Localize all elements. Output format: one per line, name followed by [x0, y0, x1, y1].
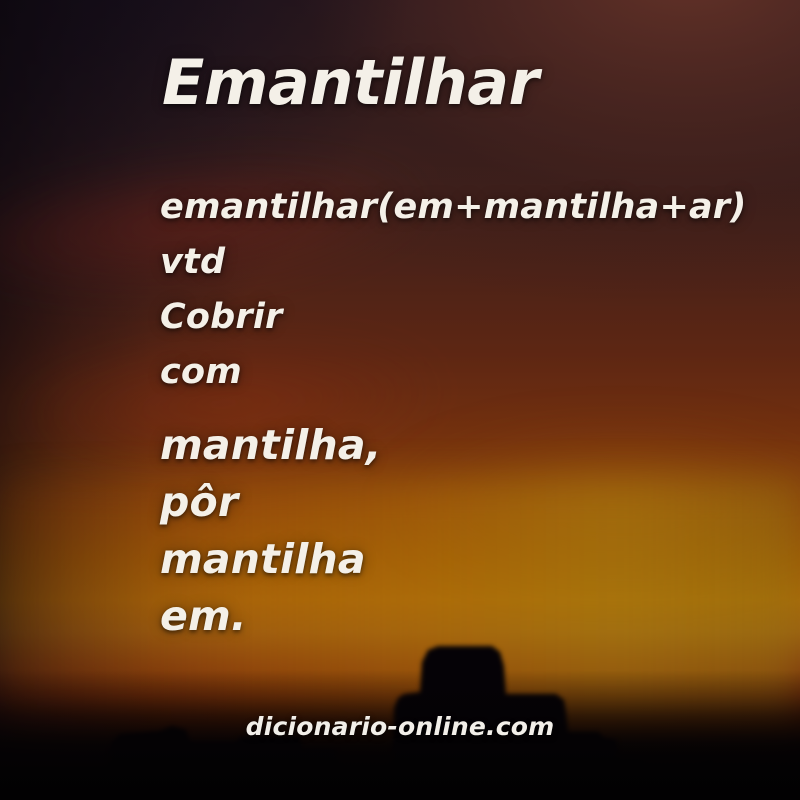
definition-block: emantilhar(em+mantilha+ar) vtd Cobrir co… — [160, 180, 800, 645]
definition-line-8: em. — [160, 588, 800, 645]
page-title: Emantilhar — [162, 52, 539, 114]
definition-line-3: Cobrir — [160, 290, 800, 345]
site-watermark: dicionario-online.com — [0, 712, 800, 741]
definition-line-headword: emantilhar(em+mantilha+ar) — [160, 180, 800, 235]
definition-line-part-of-speech: vtd — [160, 235, 800, 290]
definition-image-card: Emantilhar emantilhar(em+mantilha+ar) vt… — [0, 0, 800, 800]
definition-line-6: pôr — [160, 474, 800, 531]
definition-line-5: mantilha, — [160, 417, 800, 474]
text-overlay: Emantilhar emantilhar(em+mantilha+ar) vt… — [0, 0, 800, 800]
definition-line-4: com — [160, 345, 800, 400]
definition-line-7: mantilha — [160, 531, 800, 588]
